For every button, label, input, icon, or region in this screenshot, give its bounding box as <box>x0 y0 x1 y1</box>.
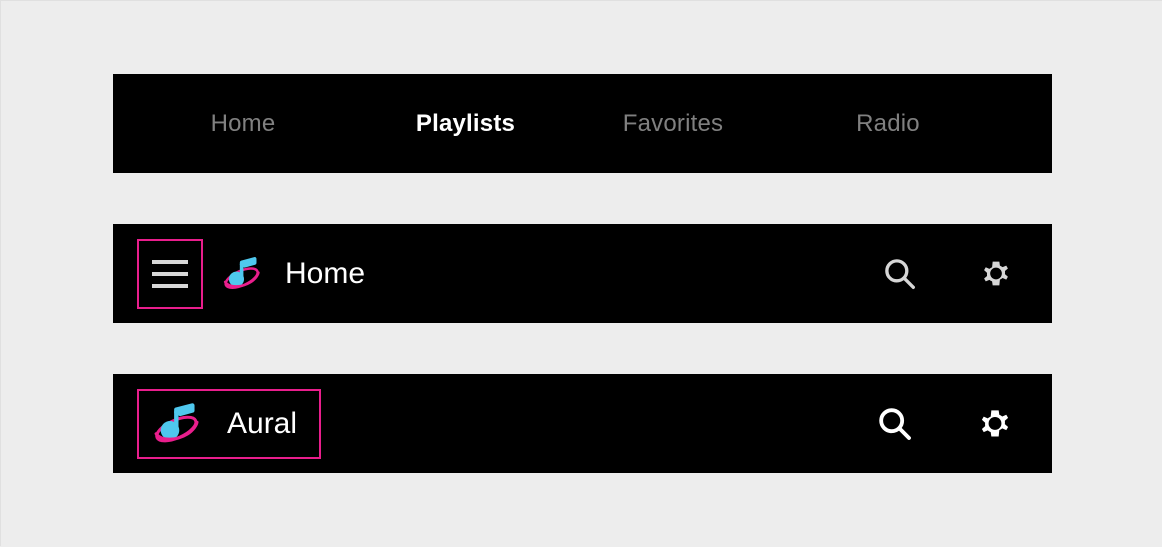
mockup-stage: Home Playlists Favorites Radio <box>1 1 1162 547</box>
hamburger-line <box>152 272 188 276</box>
tab-radio[interactable]: Radio <box>788 112 988 136</box>
brand-leading-group: Aural <box>113 389 864 459</box>
page-title: Home <box>285 259 365 289</box>
brand-bar-actions <box>864 393 1052 455</box>
tab-navigation-bar: Home Playlists Favorites Radio <box>113 74 1052 173</box>
tab-playlists[interactable]: Playlists <box>373 112 558 136</box>
settings-gear-icon[interactable] <box>964 393 1026 455</box>
tab-home[interactable]: Home <box>113 112 373 136</box>
gear-glyph <box>973 402 1017 446</box>
hamburger-line <box>152 284 188 288</box>
aural-note-logo-icon <box>221 252 265 296</box>
search-icon[interactable] <box>872 246 928 302</box>
hamburger-menu-icon[interactable] <box>137 239 203 309</box>
search-icon[interactable] <box>864 393 926 455</box>
gear-glyph <box>976 254 1016 294</box>
hamburger-line <box>152 260 188 264</box>
tab-favorites[interactable]: Favorites <box>558 112 788 136</box>
settings-gear-icon[interactable] <box>968 246 1024 302</box>
app-bar-with-menu: Home <box>113 224 1052 323</box>
search-glyph <box>875 404 915 444</box>
search-glyph <box>881 255 919 293</box>
brand-name: Aural <box>227 409 297 439</box>
aural-note-logo-icon <box>151 397 205 451</box>
brand-home-button[interactable]: Aural <box>137 389 321 459</box>
app-bar-with-brand: Aural <box>113 374 1052 473</box>
app-bar-actions <box>872 246 1052 302</box>
app-bar-leading-group: Home <box>113 239 872 309</box>
